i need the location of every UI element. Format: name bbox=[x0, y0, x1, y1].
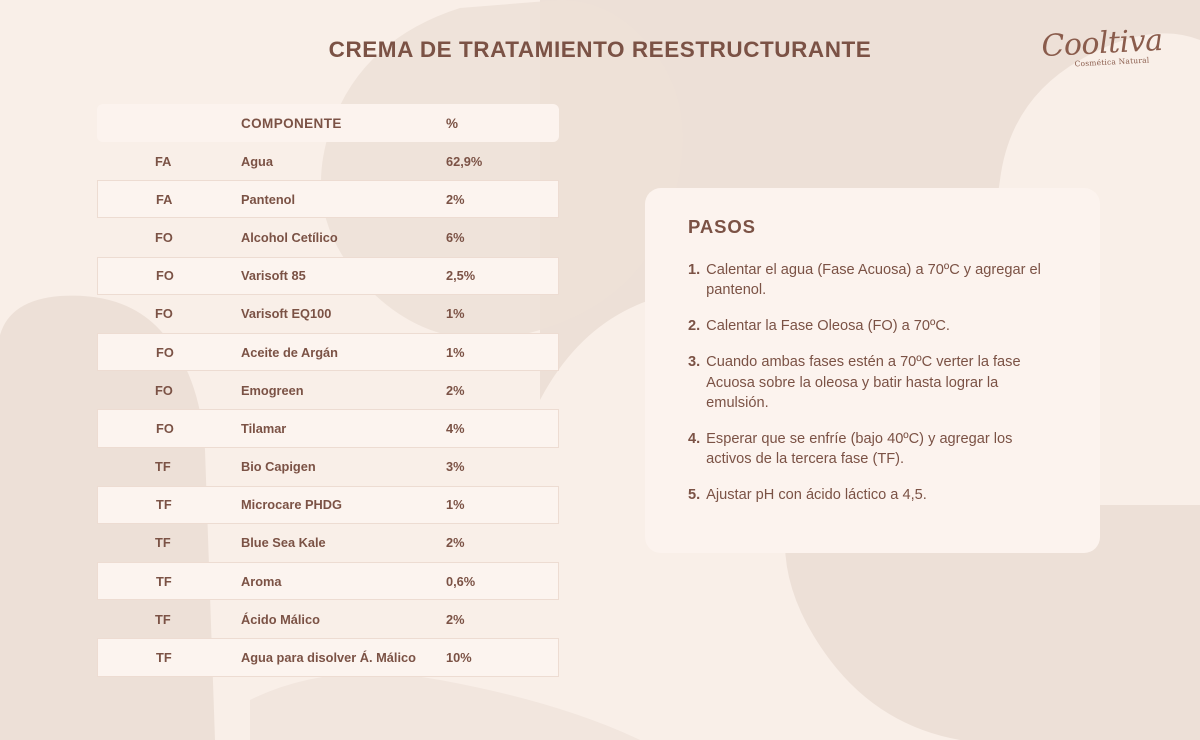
percent-label: 1% bbox=[443, 345, 465, 360]
phase-label: TF bbox=[97, 535, 171, 550]
table-row: FOAlcohol Cetílico6% bbox=[97, 218, 559, 256]
cell-component: Emogreen bbox=[215, 371, 443, 409]
cell-percent: 2% bbox=[443, 524, 559, 562]
percent-label: 2% bbox=[443, 192, 465, 207]
component-label: Aceite de Argán bbox=[215, 345, 338, 360]
step-text: Ajustar pH con ácido láctico a 4,5. bbox=[706, 485, 1060, 505]
phase-label: FO bbox=[98, 268, 174, 283]
cell-component: Agua bbox=[215, 142, 443, 180]
phase-label: FO bbox=[97, 306, 173, 321]
cell-component: Aceite de Argán bbox=[215, 333, 443, 371]
phase-label: TF bbox=[97, 612, 171, 627]
step-text: Cuando ambas fases estén a 70ºC verter l… bbox=[706, 352, 1060, 412]
phase-label: FO bbox=[97, 383, 173, 398]
table-header-row: COMPONENTE % bbox=[97, 104, 559, 142]
column-header-component: COMPONENTE bbox=[215, 104, 443, 142]
step-text: Esperar que se enfríe (bajo 40ºC) y agre… bbox=[706, 429, 1060, 469]
component-label: Pantenol bbox=[215, 192, 295, 207]
cell-percent: 1% bbox=[443, 486, 559, 524]
component-label: Varisoft EQ100 bbox=[215, 306, 331, 321]
cell-phase: FA bbox=[97, 142, 215, 180]
table-head: COMPONENTE % bbox=[97, 104, 559, 142]
cell-phase: FA bbox=[97, 180, 215, 218]
column-header-phase-label bbox=[97, 116, 155, 131]
phase-label: FO bbox=[97, 230, 173, 245]
cell-phase: FO bbox=[97, 218, 215, 256]
table-row: TFÁcido Málico2% bbox=[97, 600, 559, 638]
step-item: 5.Ajustar pH con ácido láctico a 4,5. bbox=[688, 485, 1060, 505]
cell-component: Microcare PHDG bbox=[215, 486, 443, 524]
phase-label: TF bbox=[98, 497, 172, 512]
column-header-phase bbox=[97, 104, 215, 142]
column-header-component-label: COMPONENTE bbox=[215, 116, 342, 131]
cell-percent: 2% bbox=[443, 371, 559, 409]
step-number: 5. bbox=[688, 485, 700, 505]
cell-phase: FO bbox=[97, 257, 215, 295]
percent-label: 2% bbox=[443, 612, 465, 627]
page-title: CREMA DE TRATAMIENTO REESTRUCTURANTE bbox=[0, 37, 1200, 63]
cell-component: Agua para disolver Á. Málico bbox=[215, 638, 443, 676]
cell-percent: 1% bbox=[443, 333, 559, 371]
phase-label: TF bbox=[98, 574, 172, 589]
cell-percent: 0,6% bbox=[443, 562, 559, 600]
cell-phase: TF bbox=[97, 448, 215, 486]
cell-percent: 4% bbox=[443, 409, 559, 447]
component-label: Agua bbox=[215, 154, 273, 169]
component-label: Emogreen bbox=[215, 383, 304, 398]
step-text: Calentar la Fase Oleosa (FO) a 70ºC. bbox=[706, 316, 1060, 336]
table-row: FOTilamar4% bbox=[97, 409, 559, 447]
cell-percent: 62,9% bbox=[443, 142, 559, 180]
cell-phase: FO bbox=[97, 409, 215, 447]
cell-phase: TF bbox=[97, 486, 215, 524]
table-row: TFAroma0,6% bbox=[97, 562, 559, 600]
cell-phase: TF bbox=[97, 600, 215, 638]
percent-label: 3% bbox=[443, 459, 465, 474]
step-item: 2.Calentar la Fase Oleosa (FO) a 70ºC. bbox=[688, 316, 1060, 336]
phase-label: TF bbox=[97, 459, 171, 474]
pasos-card: PASOS 1.Calentar el agua (Fase Acuosa) a… bbox=[645, 188, 1100, 553]
component-label: Blue Sea Kale bbox=[215, 535, 326, 550]
percent-label: 0,6% bbox=[443, 574, 475, 589]
percent-label: 2% bbox=[443, 535, 465, 550]
cell-component: Alcohol Cetílico bbox=[215, 218, 443, 256]
step-number: 1. bbox=[688, 260, 700, 280]
phase-label: FA bbox=[97, 154, 171, 169]
cell-percent: 3% bbox=[443, 448, 559, 486]
component-label: Alcohol Cetílico bbox=[215, 230, 338, 245]
cell-component: Pantenol bbox=[215, 180, 443, 218]
cell-percent: 1% bbox=[443, 295, 559, 333]
page-header: CREMA DE TRATAMIENTO REESTRUCTURANTE Coo… bbox=[0, 0, 1200, 96]
cell-percent: 2,5% bbox=[443, 257, 559, 295]
phase-label: FA bbox=[98, 192, 172, 207]
column-header-percent-label: % bbox=[443, 116, 458, 131]
step-item: 3.Cuando ambas fases estén a 70ºC verter… bbox=[688, 352, 1060, 412]
cell-phase: TF bbox=[97, 638, 215, 676]
step-number: 3. bbox=[688, 352, 700, 372]
cell-component: Bio Capigen bbox=[215, 448, 443, 486]
percent-label: 62,9% bbox=[443, 154, 482, 169]
step-number: 2. bbox=[688, 316, 700, 336]
cell-component: Ácido Málico bbox=[215, 600, 443, 638]
component-label: Varisoft 85 bbox=[215, 268, 306, 283]
step-item: 1.Calentar el agua (Fase Acuosa) a 70ºC … bbox=[688, 260, 1060, 300]
phase-label: FO bbox=[98, 345, 174, 360]
percent-label: 2% bbox=[443, 383, 465, 398]
table-row: FOVarisoft EQ1001% bbox=[97, 295, 559, 333]
cell-component: Aroma bbox=[215, 562, 443, 600]
component-label: Ácido Málico bbox=[215, 612, 320, 627]
percent-label: 1% bbox=[443, 306, 465, 321]
cell-phase: FO bbox=[97, 295, 215, 333]
cell-phase: FO bbox=[97, 333, 215, 371]
table-row: FAPantenol2% bbox=[97, 180, 559, 218]
ingredients-table: COMPONENTE % FAAgua62,9%FAPantenol2%FOAl… bbox=[97, 104, 559, 677]
table-row: TFMicrocare PHDG1% bbox=[97, 486, 559, 524]
cell-component: Varisoft 85 bbox=[215, 257, 443, 295]
cell-component: Blue Sea Kale bbox=[215, 524, 443, 562]
column-header-percent: % bbox=[443, 104, 559, 142]
table-row: TFBio Capigen3% bbox=[97, 448, 559, 486]
phase-label: FO bbox=[98, 421, 174, 436]
brand-logo: Cooltiva Cosmética Natural bbox=[1038, 28, 1166, 80]
blob-bottom-center bbox=[250, 673, 640, 740]
phase-label: TF bbox=[98, 650, 172, 665]
component-label: Aroma bbox=[215, 574, 282, 589]
pasos-heading: PASOS bbox=[688, 216, 1060, 238]
table-row: FAAgua62,9% bbox=[97, 142, 559, 180]
cell-percent: 2% bbox=[443, 600, 559, 638]
ingredients-table-container: COMPONENTE % FAAgua62,9%FAPantenol2%FOAl… bbox=[97, 104, 559, 677]
percent-label: 1% bbox=[443, 497, 465, 512]
cell-percent: 2% bbox=[443, 180, 559, 218]
percent-label: 6% bbox=[443, 230, 465, 245]
component-label: Microcare PHDG bbox=[215, 497, 342, 512]
percent-label: 10% bbox=[443, 650, 472, 665]
step-text: Calentar el agua (Fase Acuosa) a 70ºC y … bbox=[706, 260, 1060, 300]
table-body: FAAgua62,9%FAPantenol2%FOAlcohol Cetílic… bbox=[97, 142, 559, 677]
component-label: Tilamar bbox=[215, 421, 286, 436]
table-row: TFAgua para disolver Á. Málico10% bbox=[97, 638, 559, 676]
cell-percent: 6% bbox=[443, 218, 559, 256]
table-row: FOAceite de Argán1% bbox=[97, 333, 559, 371]
cell-phase: FO bbox=[97, 371, 215, 409]
percent-label: 4% bbox=[443, 421, 465, 436]
table-row: TFBlue Sea Kale2% bbox=[97, 524, 559, 562]
component-label: Agua para disolver Á. Málico bbox=[215, 650, 416, 665]
step-number: 4. bbox=[688, 429, 700, 449]
cell-component: Varisoft EQ100 bbox=[215, 295, 443, 333]
component-label: Bio Capigen bbox=[215, 459, 316, 474]
percent-label: 2,5% bbox=[443, 268, 475, 283]
step-item: 4.Esperar que se enfríe (bajo 40ºC) y ag… bbox=[688, 429, 1060, 469]
steps-list: 1.Calentar el agua (Fase Acuosa) a 70ºC … bbox=[688, 260, 1060, 505]
cell-component: Tilamar bbox=[215, 409, 443, 447]
cell-phase: TF bbox=[97, 562, 215, 600]
table-row: FOEmogreen2% bbox=[97, 371, 559, 409]
cell-phase: TF bbox=[97, 524, 215, 562]
cell-percent: 10% bbox=[443, 638, 559, 676]
table-row: FOVarisoft 852,5% bbox=[97, 257, 559, 295]
